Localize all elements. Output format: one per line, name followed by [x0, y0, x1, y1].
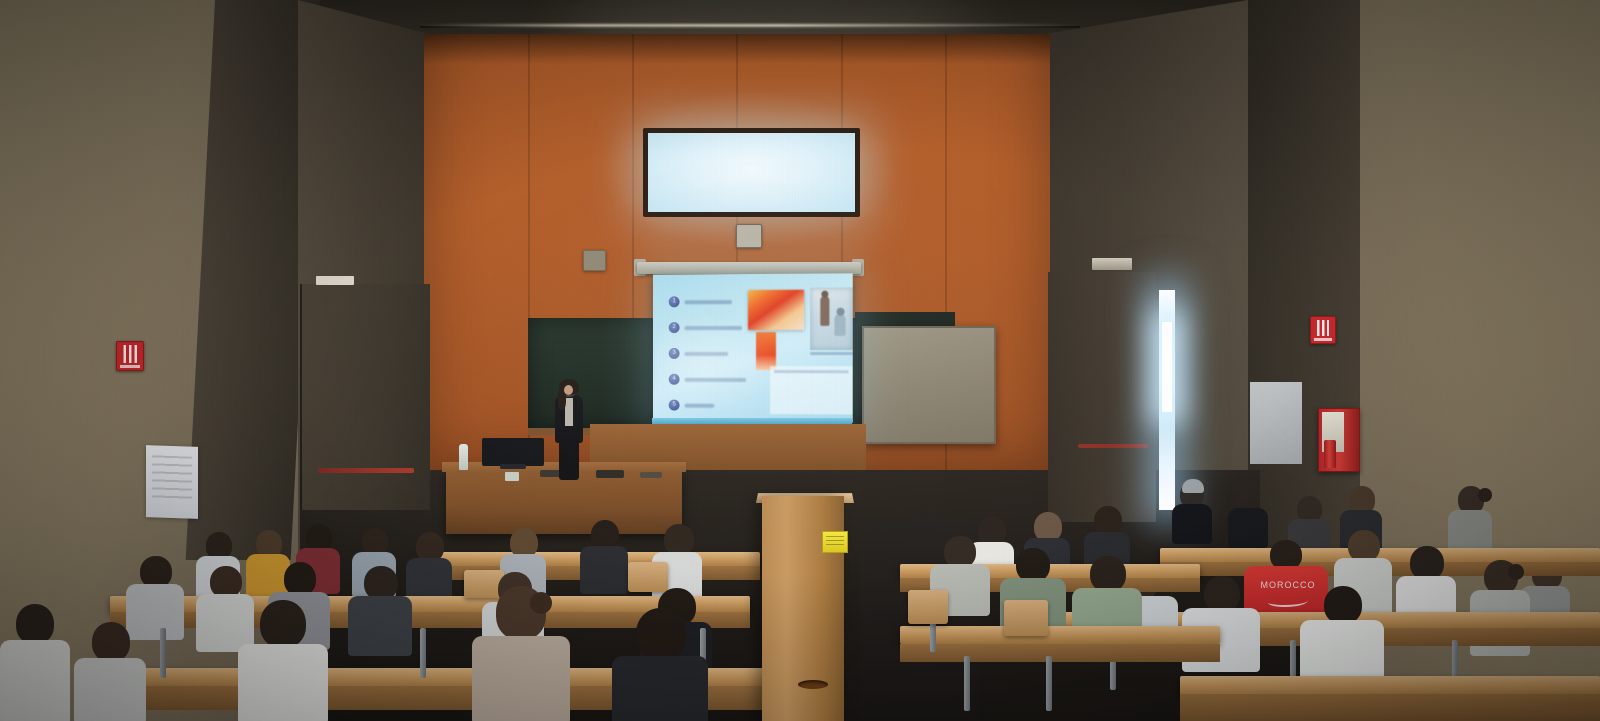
student — [0, 604, 70, 721]
wall-speaker-icon — [583, 250, 606, 271]
pillar-handle — [798, 680, 828, 689]
student — [348, 566, 412, 654]
light-window-panel — [643, 128, 860, 217]
student — [1228, 486, 1268, 546]
emergency-exit-sign-icon — [1310, 316, 1336, 344]
projector-hotspot — [657, 314, 776, 414]
exit-door-left[interactable] — [300, 284, 430, 510]
student — [472, 586, 570, 721]
wall-right-shadowed — [1245, 0, 1360, 560]
emergency-exit-sign-icon — [116, 341, 144, 371]
wall-poster — [146, 445, 198, 519]
corridor-light-core — [1162, 322, 1172, 412]
exit-door-right[interactable] — [1048, 272, 1156, 522]
cup — [505, 472, 519, 481]
student — [74, 622, 146, 721]
student — [1448, 486, 1492, 552]
monitor-base — [500, 464, 526, 469]
monitor-icon — [482, 438, 544, 466]
student — [580, 520, 628, 590]
slide-white-panel — [770, 366, 853, 415]
door-push-bar[interactable] — [1078, 444, 1148, 448]
projection-screen: 1 2 3 4 5 — [653, 273, 853, 422]
water-bottle — [459, 444, 468, 470]
desk-row — [900, 626, 1220, 644]
warning-sticker-icon — [822, 531, 848, 553]
lecturer — [549, 380, 587, 480]
slide-bullet-text — [684, 300, 732, 304]
student — [1300, 586, 1384, 686]
student — [1172, 482, 1212, 542]
desk-front — [1180, 694, 1600, 721]
door-sign-right — [1092, 258, 1132, 270]
desk-object — [596, 470, 624, 478]
slide-photo-person-with-child — [810, 287, 853, 350]
desk-row — [1180, 676, 1600, 696]
desk-front — [900, 644, 1220, 662]
slide-panel-text — [774, 370, 849, 373]
lecture-hall-photo: 1 2 3 4 5 — [0, 0, 1600, 721]
student — [612, 608, 708, 721]
wall-plaque-icon — [736, 224, 762, 248]
student — [238, 600, 328, 721]
wall-panel-right — [1250, 382, 1302, 464]
whiteboard — [862, 326, 996, 444]
student — [406, 532, 452, 600]
slide-bullet-number: 1 — [669, 296, 680, 307]
door-sign-left — [316, 276, 354, 285]
screen-roller — [637, 262, 861, 274]
beanie-icon — [1182, 479, 1204, 493]
slide-caption-text — [810, 352, 853, 355]
door-push-bar[interactable] — [318, 468, 414, 473]
fire-extinguisher-icon — [1324, 440, 1336, 468]
desk-object — [640, 472, 662, 478]
front-wall-shadow — [424, 34, 1050, 64]
